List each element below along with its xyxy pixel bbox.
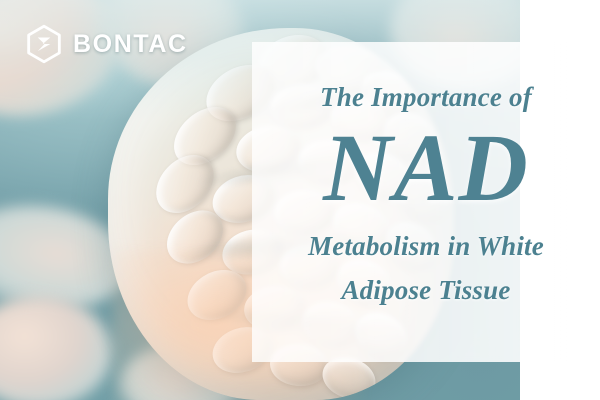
bontac-hexagon-logo-icon [24, 24, 64, 64]
brand-name: BONTAC [73, 32, 188, 57]
brand-logo[interactable]: BONTAC [24, 24, 188, 64]
title-line-mid: Metabolism in White [308, 231, 544, 262]
title-block: The Importance of NAD Metabolism in Whit… [252, 42, 600, 362]
title-line-bottom: Adipose Tissue [341, 275, 510, 306]
title-line-top: The Importance of [320, 82, 532, 113]
article-banner: BONTAC The Importance of NAD Metabolism … [0, 0, 600, 400]
title-hero-word: NAD [323, 119, 529, 217]
